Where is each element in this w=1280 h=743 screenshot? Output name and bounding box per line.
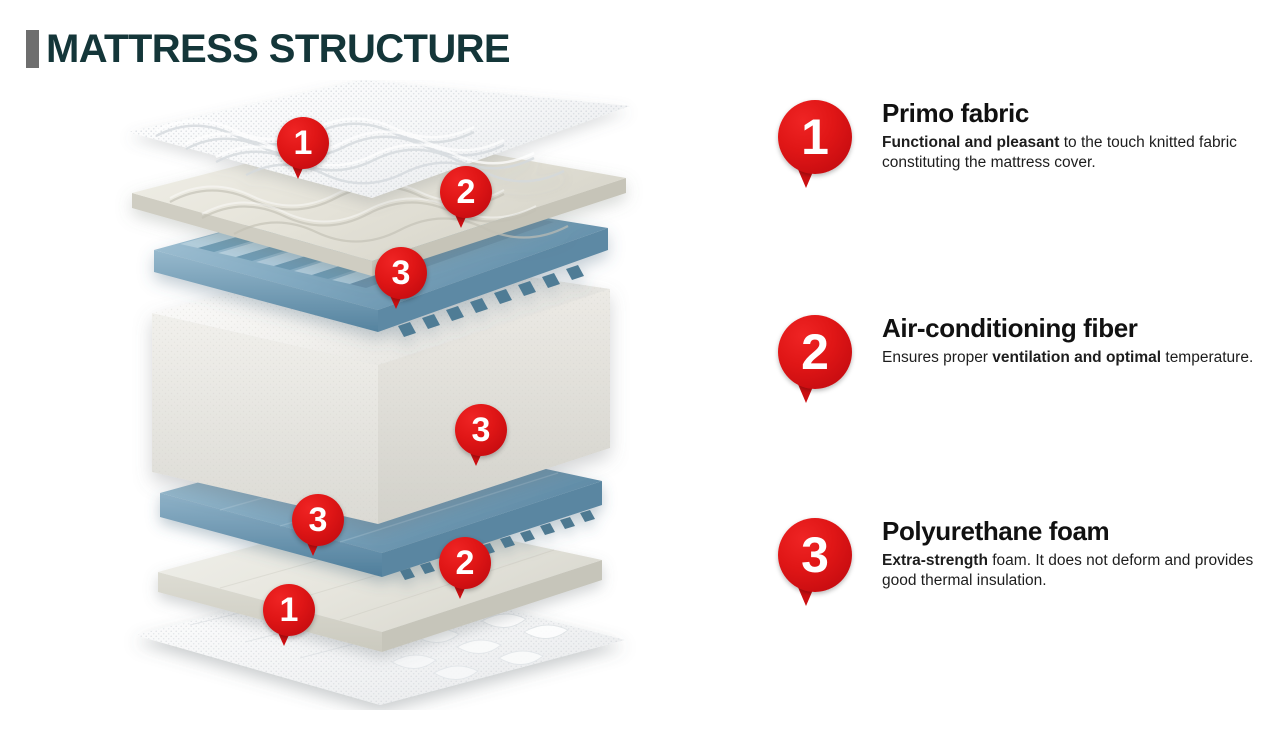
- legend-text-block: Polyurethane foam Extra-strength foam. I…: [882, 516, 1257, 591]
- pin-number: 3: [292, 494, 344, 546]
- legend-pin-2[interactable]: 2: [770, 305, 870, 415]
- pin-number: 3: [455, 404, 507, 456]
- legend-body-emphasis: ventilation and optimal: [992, 349, 1161, 366]
- legend-heading: Polyurethane foam: [882, 516, 1257, 546]
- legend-list: 1 Primo fabric Functional and pleasant t…: [770, 80, 1260, 710]
- pin-number: 1: [277, 117, 329, 169]
- legend-item-air-conditioning-fiber[interactable]: 2 Air-conditioning fiber Ensures proper …: [770, 305, 1260, 425]
- legend-item-primo-fabric[interactable]: 1 Primo fabric Functional and pleasant t…: [770, 90, 1260, 210]
- pin-number: 1: [778, 100, 852, 174]
- legend-body-lead: Ensures proper: [882, 349, 992, 366]
- illustration-pin-1-top-cover[interactable]: 1: [277, 117, 329, 169]
- illustration-pin-2-bottom-foam[interactable]: 2: [439, 537, 491, 589]
- pin-number: 2: [439, 537, 491, 589]
- illustration-pin-1-bottom-cover[interactable]: 1: [263, 584, 315, 636]
- legend-text-block: Air-conditioning fiber Ensures proper ve…: [882, 313, 1257, 368]
- legend-body: Extra-strength foam. It does not deform …: [882, 551, 1257, 591]
- exploded-mattress-illustration: 1 2 3 3 3 2 1: [110, 80, 650, 710]
- legend-body: Functional and pleasant to the touch kni…: [882, 133, 1257, 173]
- legend-body: Ensures proper ventilation and optimal t…: [882, 348, 1257, 368]
- legend-item-polyurethane-foam[interactable]: 3 Polyurethane foam Extra-strength foam.…: [770, 508, 1260, 628]
- title-accent-bar: [26, 30, 39, 68]
- pin-number: 3: [778, 518, 852, 592]
- pin-number: 2: [778, 315, 852, 389]
- legend-body-emphasis: Extra-strength: [882, 552, 988, 569]
- illustration-pin-2-top-foam[interactable]: 2: [440, 166, 492, 218]
- illustration-pin-3-core[interactable]: 3: [455, 404, 507, 456]
- legend-pin-marker: 2: [778, 315, 852, 389]
- pin-number: 1: [263, 584, 315, 636]
- page-title-row: MATTRESS STRUCTURE: [26, 26, 510, 72]
- pin-number: 2: [440, 166, 492, 218]
- page-title: MATTRESS STRUCTURE: [46, 29, 510, 69]
- legend-pin-marker: 3: [778, 518, 852, 592]
- legend-text-block: Primo fabric Functional and pleasant to …: [882, 98, 1257, 173]
- legend-pin-3[interactable]: 3: [770, 508, 870, 618]
- legend-body-emphasis: Functional and pleasant: [882, 134, 1059, 151]
- legend-heading: Air-conditioning fiber: [882, 313, 1257, 343]
- pin-number: 3: [375, 247, 427, 299]
- legend-body-rest: temperature.: [1161, 349, 1253, 366]
- legend-heading: Primo fabric: [882, 98, 1257, 128]
- illustration-pin-3-top-fiber[interactable]: 3: [375, 247, 427, 299]
- layer-top-quilted-cover: [110, 80, 650, 710]
- legend-pin-1[interactable]: 1: [770, 90, 870, 200]
- legend-pin-marker: 1: [778, 100, 852, 174]
- illustration-pin-3-bottom-fiber[interactable]: 3: [292, 494, 344, 546]
